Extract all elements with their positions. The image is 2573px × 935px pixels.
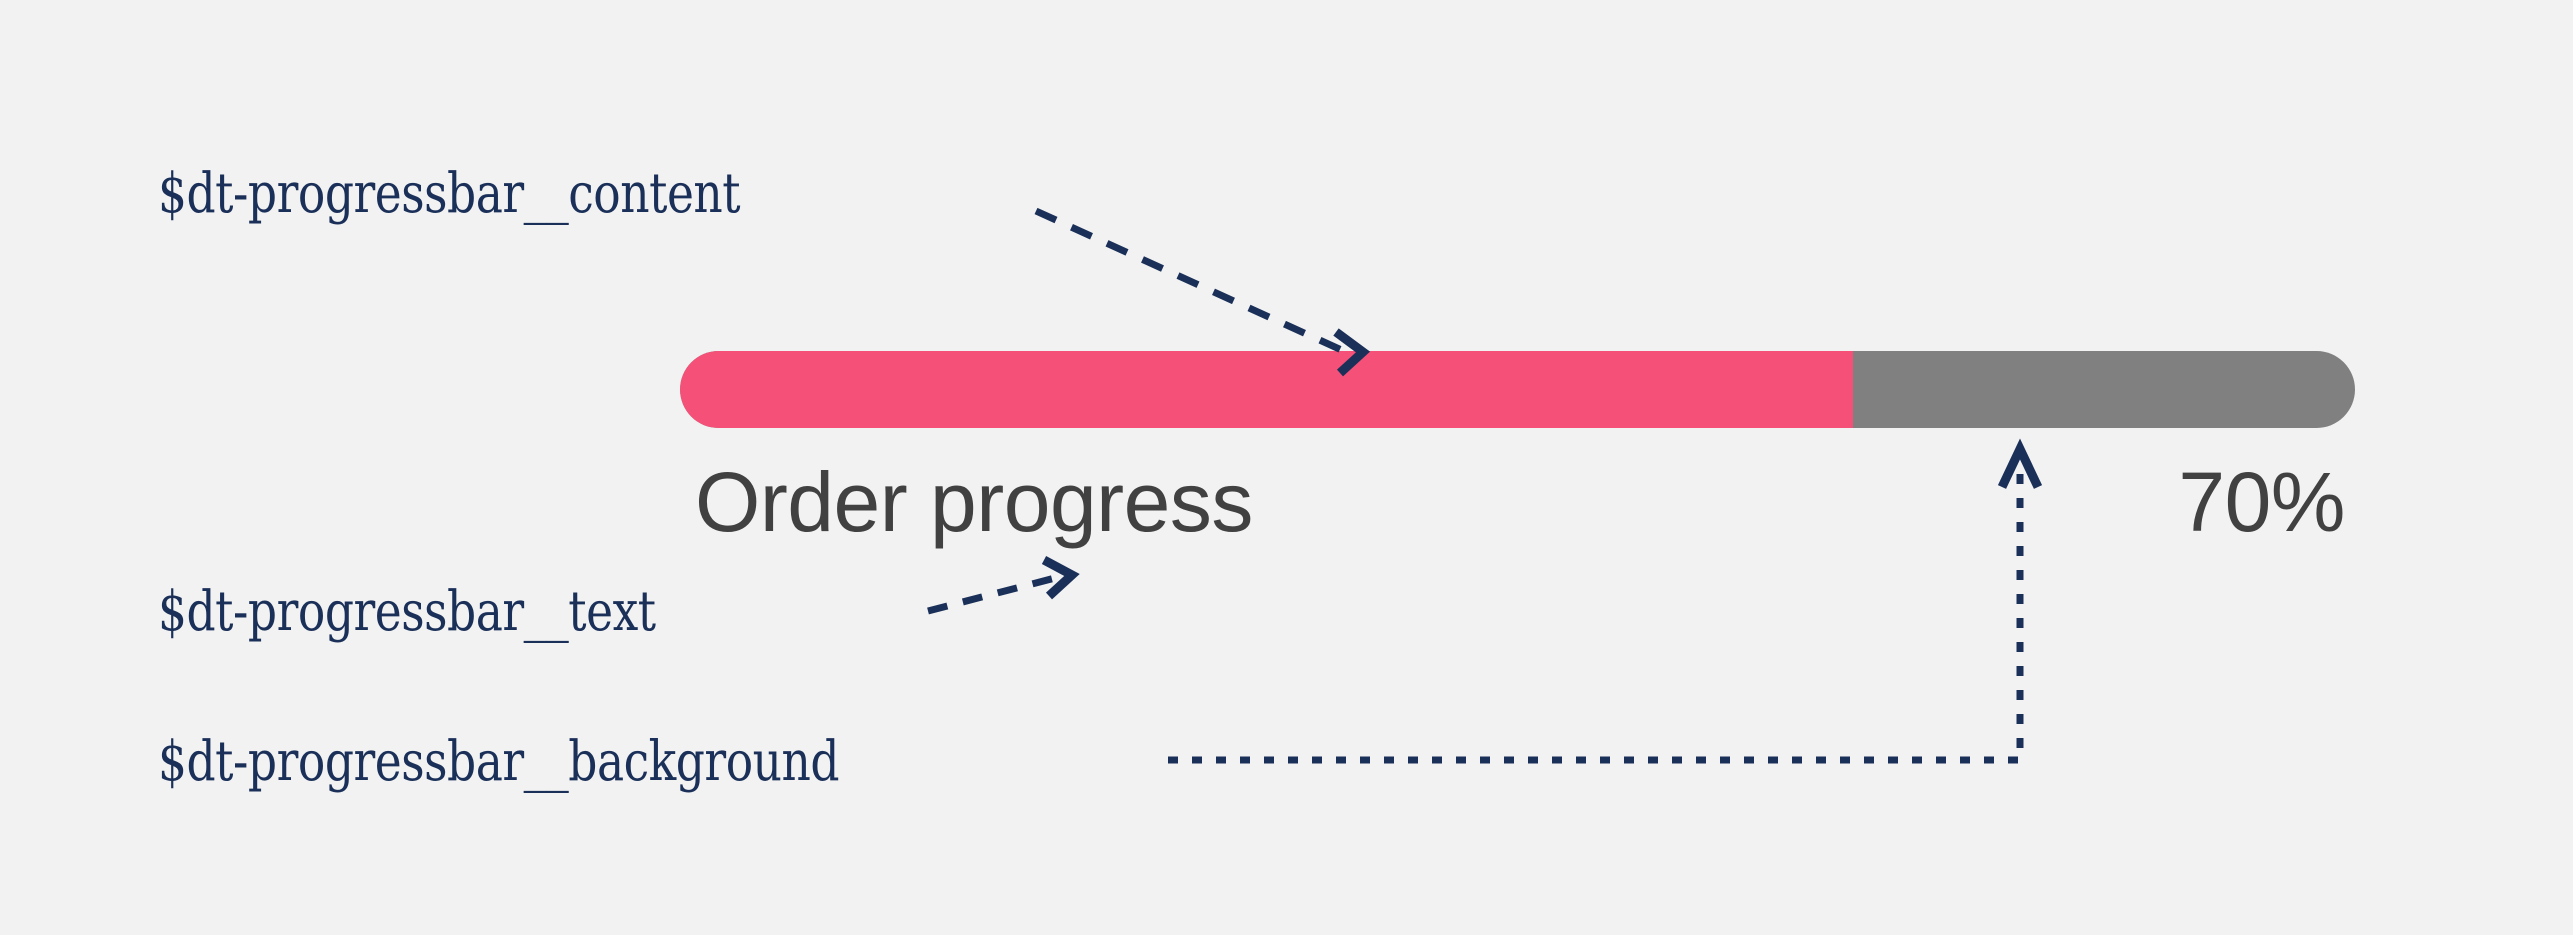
arrow-content-icon xyxy=(1036,211,1363,373)
progressbar-value: 70% xyxy=(2178,455,2345,550)
diagram-canvas: $dt-progressbar__content $dt-progressbar… xyxy=(0,0,2573,935)
progressbar-content xyxy=(680,351,1853,428)
annotation-label-content: $dt-progressbar__content xyxy=(158,166,740,221)
progressbar-caption-row: Order progress 70% xyxy=(695,455,2355,550)
progressbar-background xyxy=(680,351,2355,428)
progressbar-text: Order progress xyxy=(695,455,1253,550)
annotation-label-text: $dt-progressbar__text xyxy=(158,584,656,639)
annotation-label-background: $dt-progressbar__background xyxy=(158,734,839,789)
arrow-text-icon xyxy=(928,560,1072,611)
